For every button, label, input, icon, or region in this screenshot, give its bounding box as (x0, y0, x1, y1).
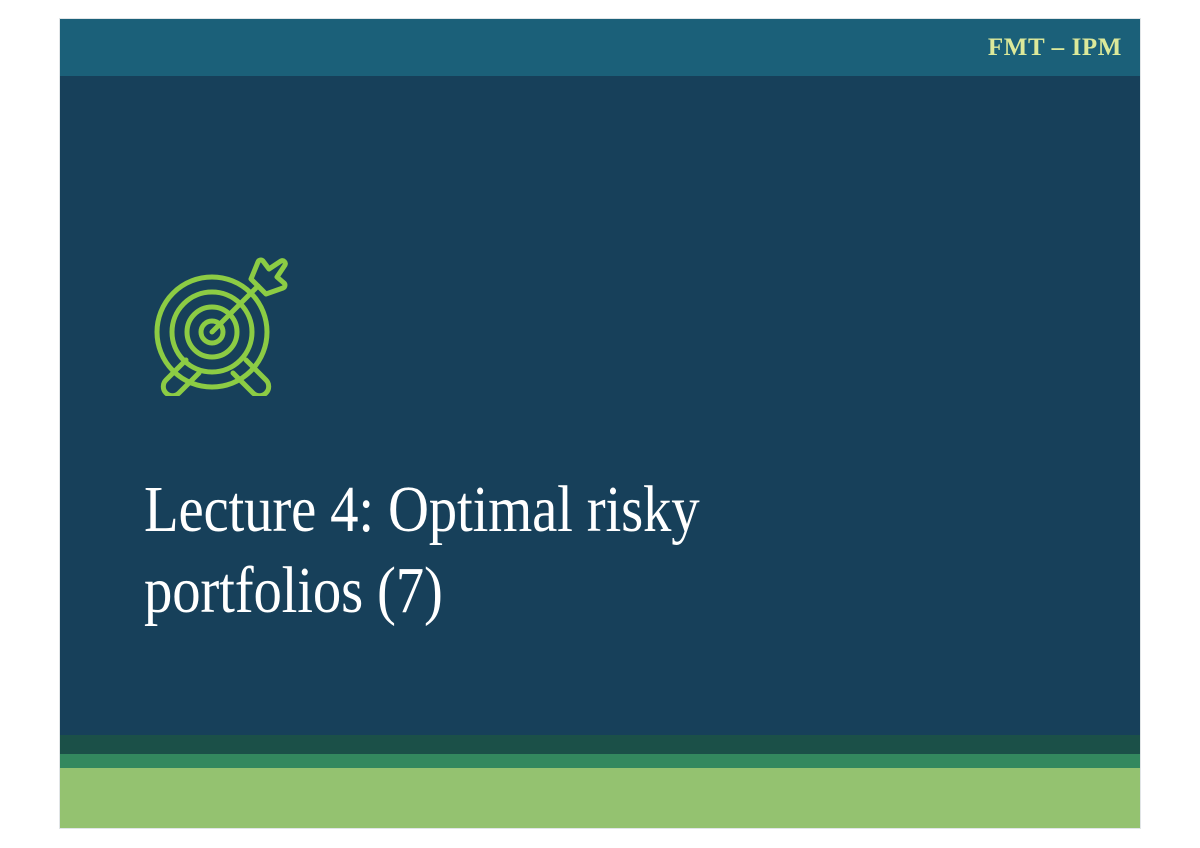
target-dartboard-icon (148, 252, 292, 396)
slide-body: Lecture 4: Optimal risky portfolios (7) (60, 76, 1140, 828)
footer-bar-mid-green (60, 754, 1140, 768)
slide-header-band: FMT – IPM (60, 19, 1140, 76)
course-code-label: FMT – IPM (988, 35, 1122, 60)
footer-bar-light-green (60, 768, 1140, 828)
presentation-slide: FMT – IPM Lecture 4: Optimal risky portf… (60, 19, 1140, 828)
slide-title: Lecture 4: Optimal risky portfolios (7) (144, 469, 832, 631)
footer-bar-dark-teal (60, 735, 1140, 754)
